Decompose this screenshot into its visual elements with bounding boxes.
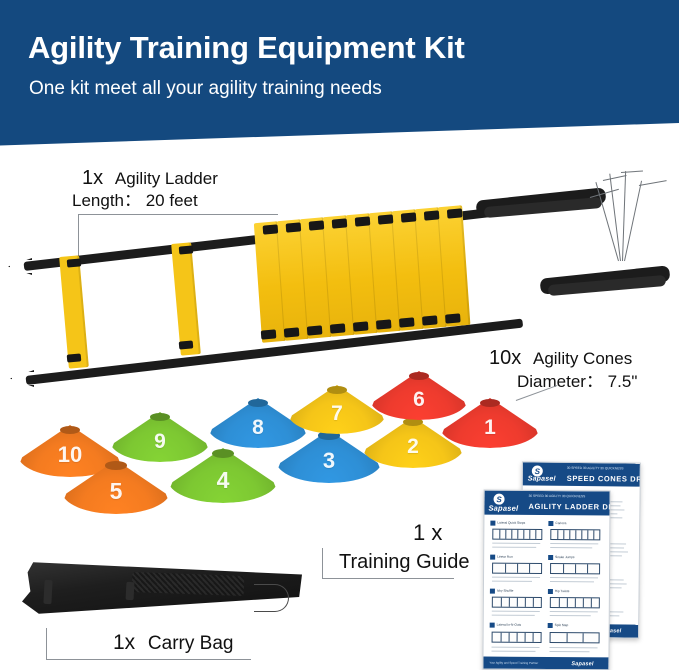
drill-caption-line: [550, 615, 591, 616]
drill-caption-line: [492, 647, 540, 648]
drill-caption-line: [550, 611, 598, 612]
drill-diagram: [550, 563, 600, 574]
bag-drawstring: [254, 584, 289, 612]
drill-caption-line: [549, 651, 589, 652]
poster-brand: Sapasel: [488, 504, 518, 513]
cone-5: 5: [62, 460, 170, 514]
drill-diagram: [492, 597, 542, 608]
drill-caption-line: [550, 543, 598, 544]
cone-top-hole: [212, 449, 234, 458]
poster-footer-brand: Sapasel: [571, 661, 593, 667]
drill-label: Lateral Quick Steps: [497, 521, 525, 525]
drill-label: Lateral In-N-Outs: [497, 623, 521, 627]
callout-training-guide-label: Training Guide: [339, 550, 469, 576]
callout-carry-bag: 1x Carry Bag: [113, 630, 233, 657]
bag-strap-buckle: [43, 580, 52, 604]
callout-training-guide-qty: 1 x: [413, 519, 442, 547]
cone-top-hole: [327, 386, 347, 394]
bag-callout-tick: [46, 628, 47, 660]
drill-marker: [490, 589, 495, 594]
drill-caption-line: [492, 615, 535, 616]
poster-footer-note: Your Agility and Speed Training Partner: [489, 661, 538, 665]
cone-4: 4: [168, 448, 278, 503]
drill-marker: [548, 589, 553, 594]
bag-label: Carry Bag: [140, 633, 234, 654]
drill-label: Icky Shuffle: [497, 589, 513, 593]
drill-marker: [490, 623, 495, 628]
product-infographic: Agility Training Equipment Kit One kit m…: [0, 0, 679, 668]
drill-caption-line: [492, 543, 540, 544]
poster-title: AGILITY LADDER DRILLS: [528, 502, 610, 512]
drill-marker: [548, 623, 553, 628]
cone-top-hole: [409, 372, 429, 380]
drill-caption-line: [492, 651, 536, 652]
bag-qty: 1x: [113, 631, 135, 654]
drill-diagram: [550, 597, 600, 608]
poster-kicker: 30 SPEED 30 AGILITY 30 QUICKNESS: [529, 494, 586, 498]
guide-qty: 1 x: [413, 520, 442, 545]
drill-marker: [490, 555, 495, 560]
guide-callout-tick: [322, 548, 323, 579]
cone-number: 5: [62, 478, 170, 505]
drill-label: Split Step: [555, 623, 569, 627]
cone-top-hole: [480, 399, 500, 407]
drill-label: Hip Twists: [555, 589, 569, 593]
drill-diagram: [492, 563, 542, 574]
poster-kicker: 30 SPEED 30 AGILITY 30 QUICKNESS: [567, 466, 624, 471]
drill-caption-line: [492, 577, 540, 578]
drill-caption-line: [492, 547, 536, 548]
poster-brand: Sapasel: [528, 475, 556, 482]
cone-top-hole: [150, 413, 170, 421]
bag-strap-buckle: [126, 582, 135, 600]
drill-diagram: [550, 632, 600, 643]
carry-bag: [14, 556, 314, 628]
cone-1: 1: [440, 398, 540, 448]
bag-callout-rule: [46, 659, 251, 660]
drill-caption-line: [492, 611, 540, 612]
drill-caption-line: [550, 647, 598, 648]
drill-marker: [490, 521, 495, 526]
drill-caption-line: [550, 581, 594, 582]
drill-marker: [548, 521, 553, 526]
guide-label: Training Guide: [339, 551, 469, 573]
drill-caption-line: [492, 581, 532, 582]
cone-top-hole: [248, 399, 268, 407]
drill-diagram: [492, 632, 542, 643]
drill-caption-line: [550, 547, 592, 548]
drill-diagram: [550, 529, 600, 540]
drill-label: Linear Run: [497, 555, 513, 559]
poster-title: SPEED CONES DRILLS: [567, 474, 641, 484]
cone-top-hole: [105, 461, 127, 470]
drill-label: Carioca: [555, 521, 566, 525]
cone-number: 4: [168, 467, 278, 494]
bag-mesh-panel: [132, 572, 245, 596]
poster-agility-ladder-drills: Sapasel 30 SPEED 30 AGILITY 30 QUICKNESS…: [482, 490, 610, 670]
drill-marker: [548, 555, 553, 560]
cone-number: 1: [440, 416, 540, 440]
guide-callout-rule: [322, 578, 454, 579]
drill-caption-line: [550, 577, 598, 578]
drill-diagram: [492, 529, 542, 540]
drill-label: Snake Jumps: [555, 555, 574, 559]
